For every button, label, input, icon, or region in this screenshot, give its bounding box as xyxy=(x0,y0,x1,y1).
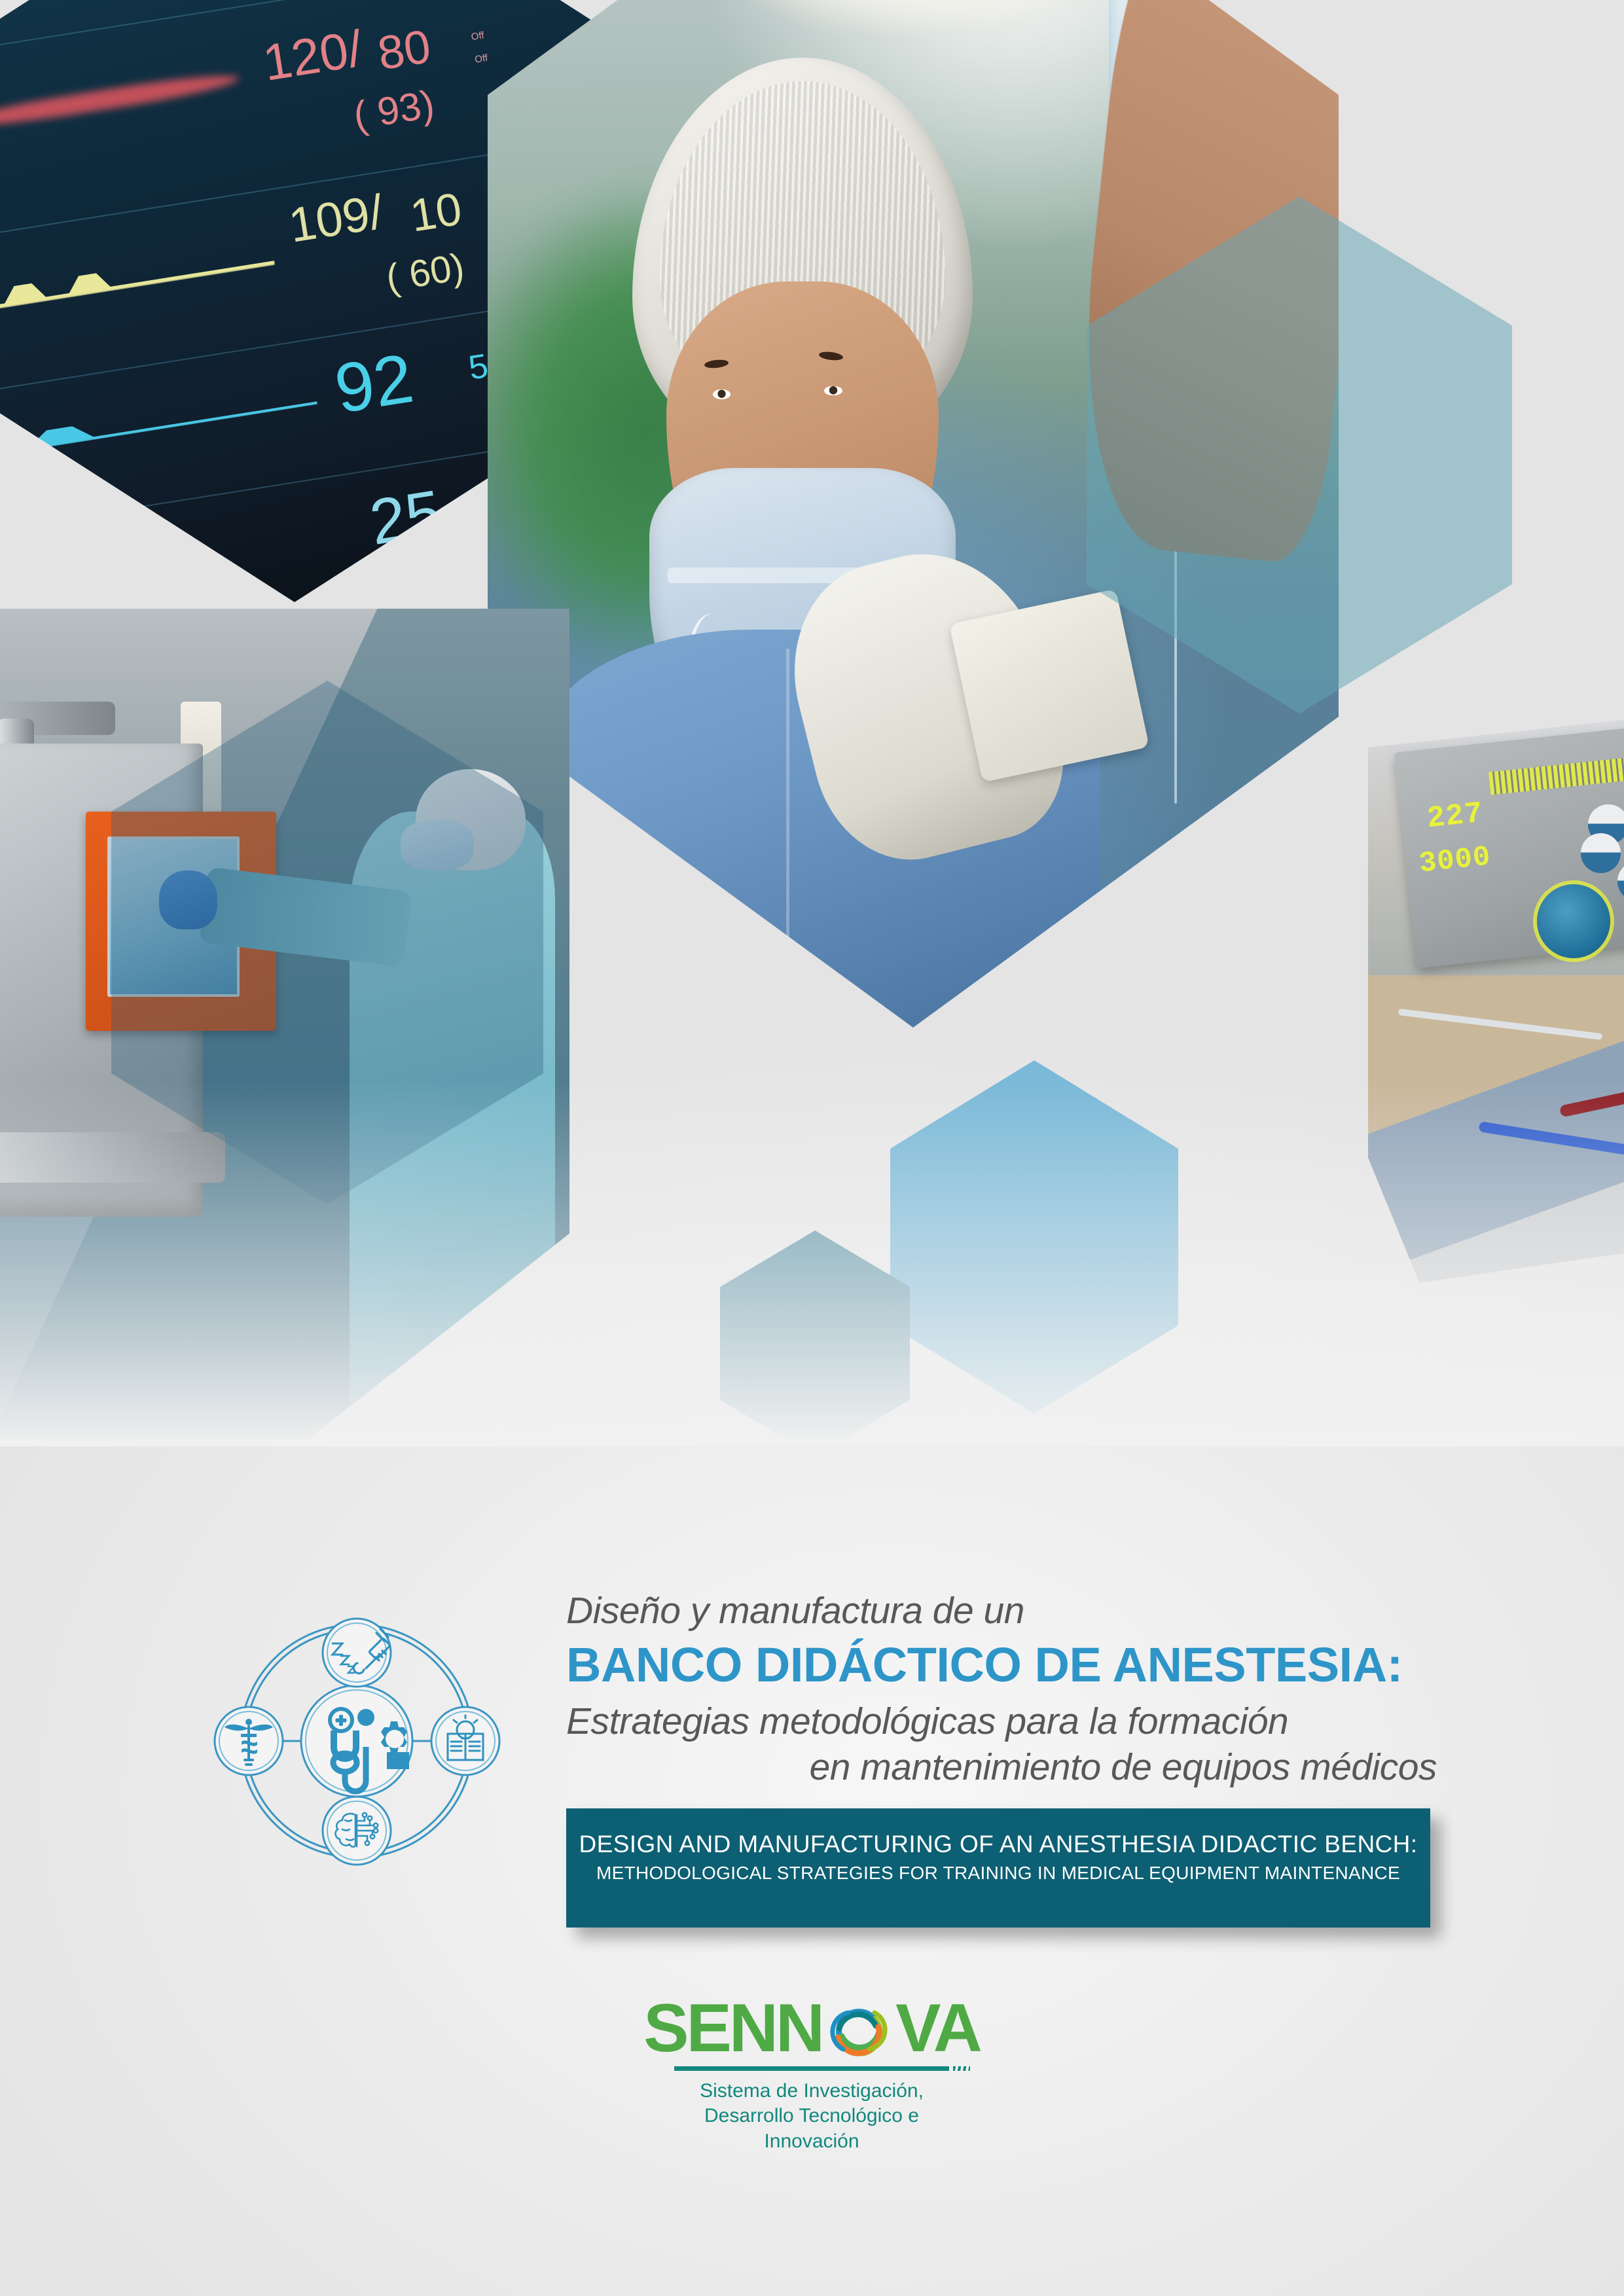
concept-icon-diagram xyxy=(213,1587,501,1895)
sennova-tagline-line2: Desarrollo Tecnológico e Innovación xyxy=(655,2104,969,2154)
english-title-line1: DESIGN AND MANUFACTURING OF AN ANESTHESI… xyxy=(579,1831,1418,1858)
hero-collage: PVCs / Min: 0 Pauses / Min: 0 mmHg 120/ … xyxy=(0,0,1624,1440)
vent-dial-knob[interactable] xyxy=(1537,884,1610,958)
hex-decor-small xyxy=(720,1230,910,1440)
title-subtitle: Estrategias metodológicas para la formac… xyxy=(566,1699,1437,1790)
title-subtitle-line2: en mantenimiento de equipos médicos xyxy=(566,1745,1437,1791)
vent-button-3[interactable] xyxy=(1581,833,1621,873)
sennova-tagline-line1: Sistema de Investigación, xyxy=(655,2079,969,2104)
monitor-off-2: Off xyxy=(474,52,488,65)
monitor-bp-diastolic: 80 xyxy=(374,19,434,81)
ventilator-equipment-photo: 227 3000 xyxy=(1368,713,1624,1283)
title-subtitle-line1: Estrategias metodológicas para la formac… xyxy=(566,1700,1288,1742)
monitor-bp2-systolic: 109/ xyxy=(285,183,387,253)
sennova-wordmark: SENN VA xyxy=(655,1993,969,2064)
title-text-block: Diseño y manufactura de un BANCO DIDÁCTI… xyxy=(566,1589,1437,1790)
sennova-swirl-icon xyxy=(822,1997,895,2065)
monitor-resp-value: 25 xyxy=(365,475,446,560)
vent-value-top: 227 xyxy=(1425,796,1485,836)
sennova-wordmark-left: SENN xyxy=(643,1994,822,2062)
page-title: BANCO DIDÁCTICO DE ANESTESIA: xyxy=(566,1638,1437,1693)
monitor-bp-mean: ( 93) xyxy=(350,81,437,138)
hex-decor-large xyxy=(890,1060,1178,1414)
english-title-line2: METHODOLOGICAL STRATEGIES FOR TRAINING I… xyxy=(596,1863,1400,1884)
sennova-wordmark-right: VA xyxy=(895,1994,980,2062)
monitor-off-1: Off xyxy=(470,29,484,43)
monitor-bp2-diastolic: 10 xyxy=(406,183,465,242)
monitor-spo2-value: 92 xyxy=(330,339,418,429)
sennova-divider xyxy=(674,2066,949,2071)
sennova-logo: SENN VA Sistema de Investiga xyxy=(655,1993,969,2157)
monitor-bp-systolic: 120/ xyxy=(259,18,367,93)
monitor-bp2-mean: ( 60) xyxy=(383,245,467,300)
icon-diagram-svg xyxy=(213,1587,501,1895)
sennova-tagline: Sistema de Investigación, Desarrollo Tec… xyxy=(655,2079,969,2154)
english-title-box: DESIGN AND MANUFACTURING OF AN ANESTHESI… xyxy=(566,1808,1430,1928)
cover-page: PVCs / Min: 0 Pauses / Min: 0 mmHg 120/ … xyxy=(0,0,1624,2296)
title-kicker: Diseño y manufactura de un xyxy=(566,1589,1437,1633)
